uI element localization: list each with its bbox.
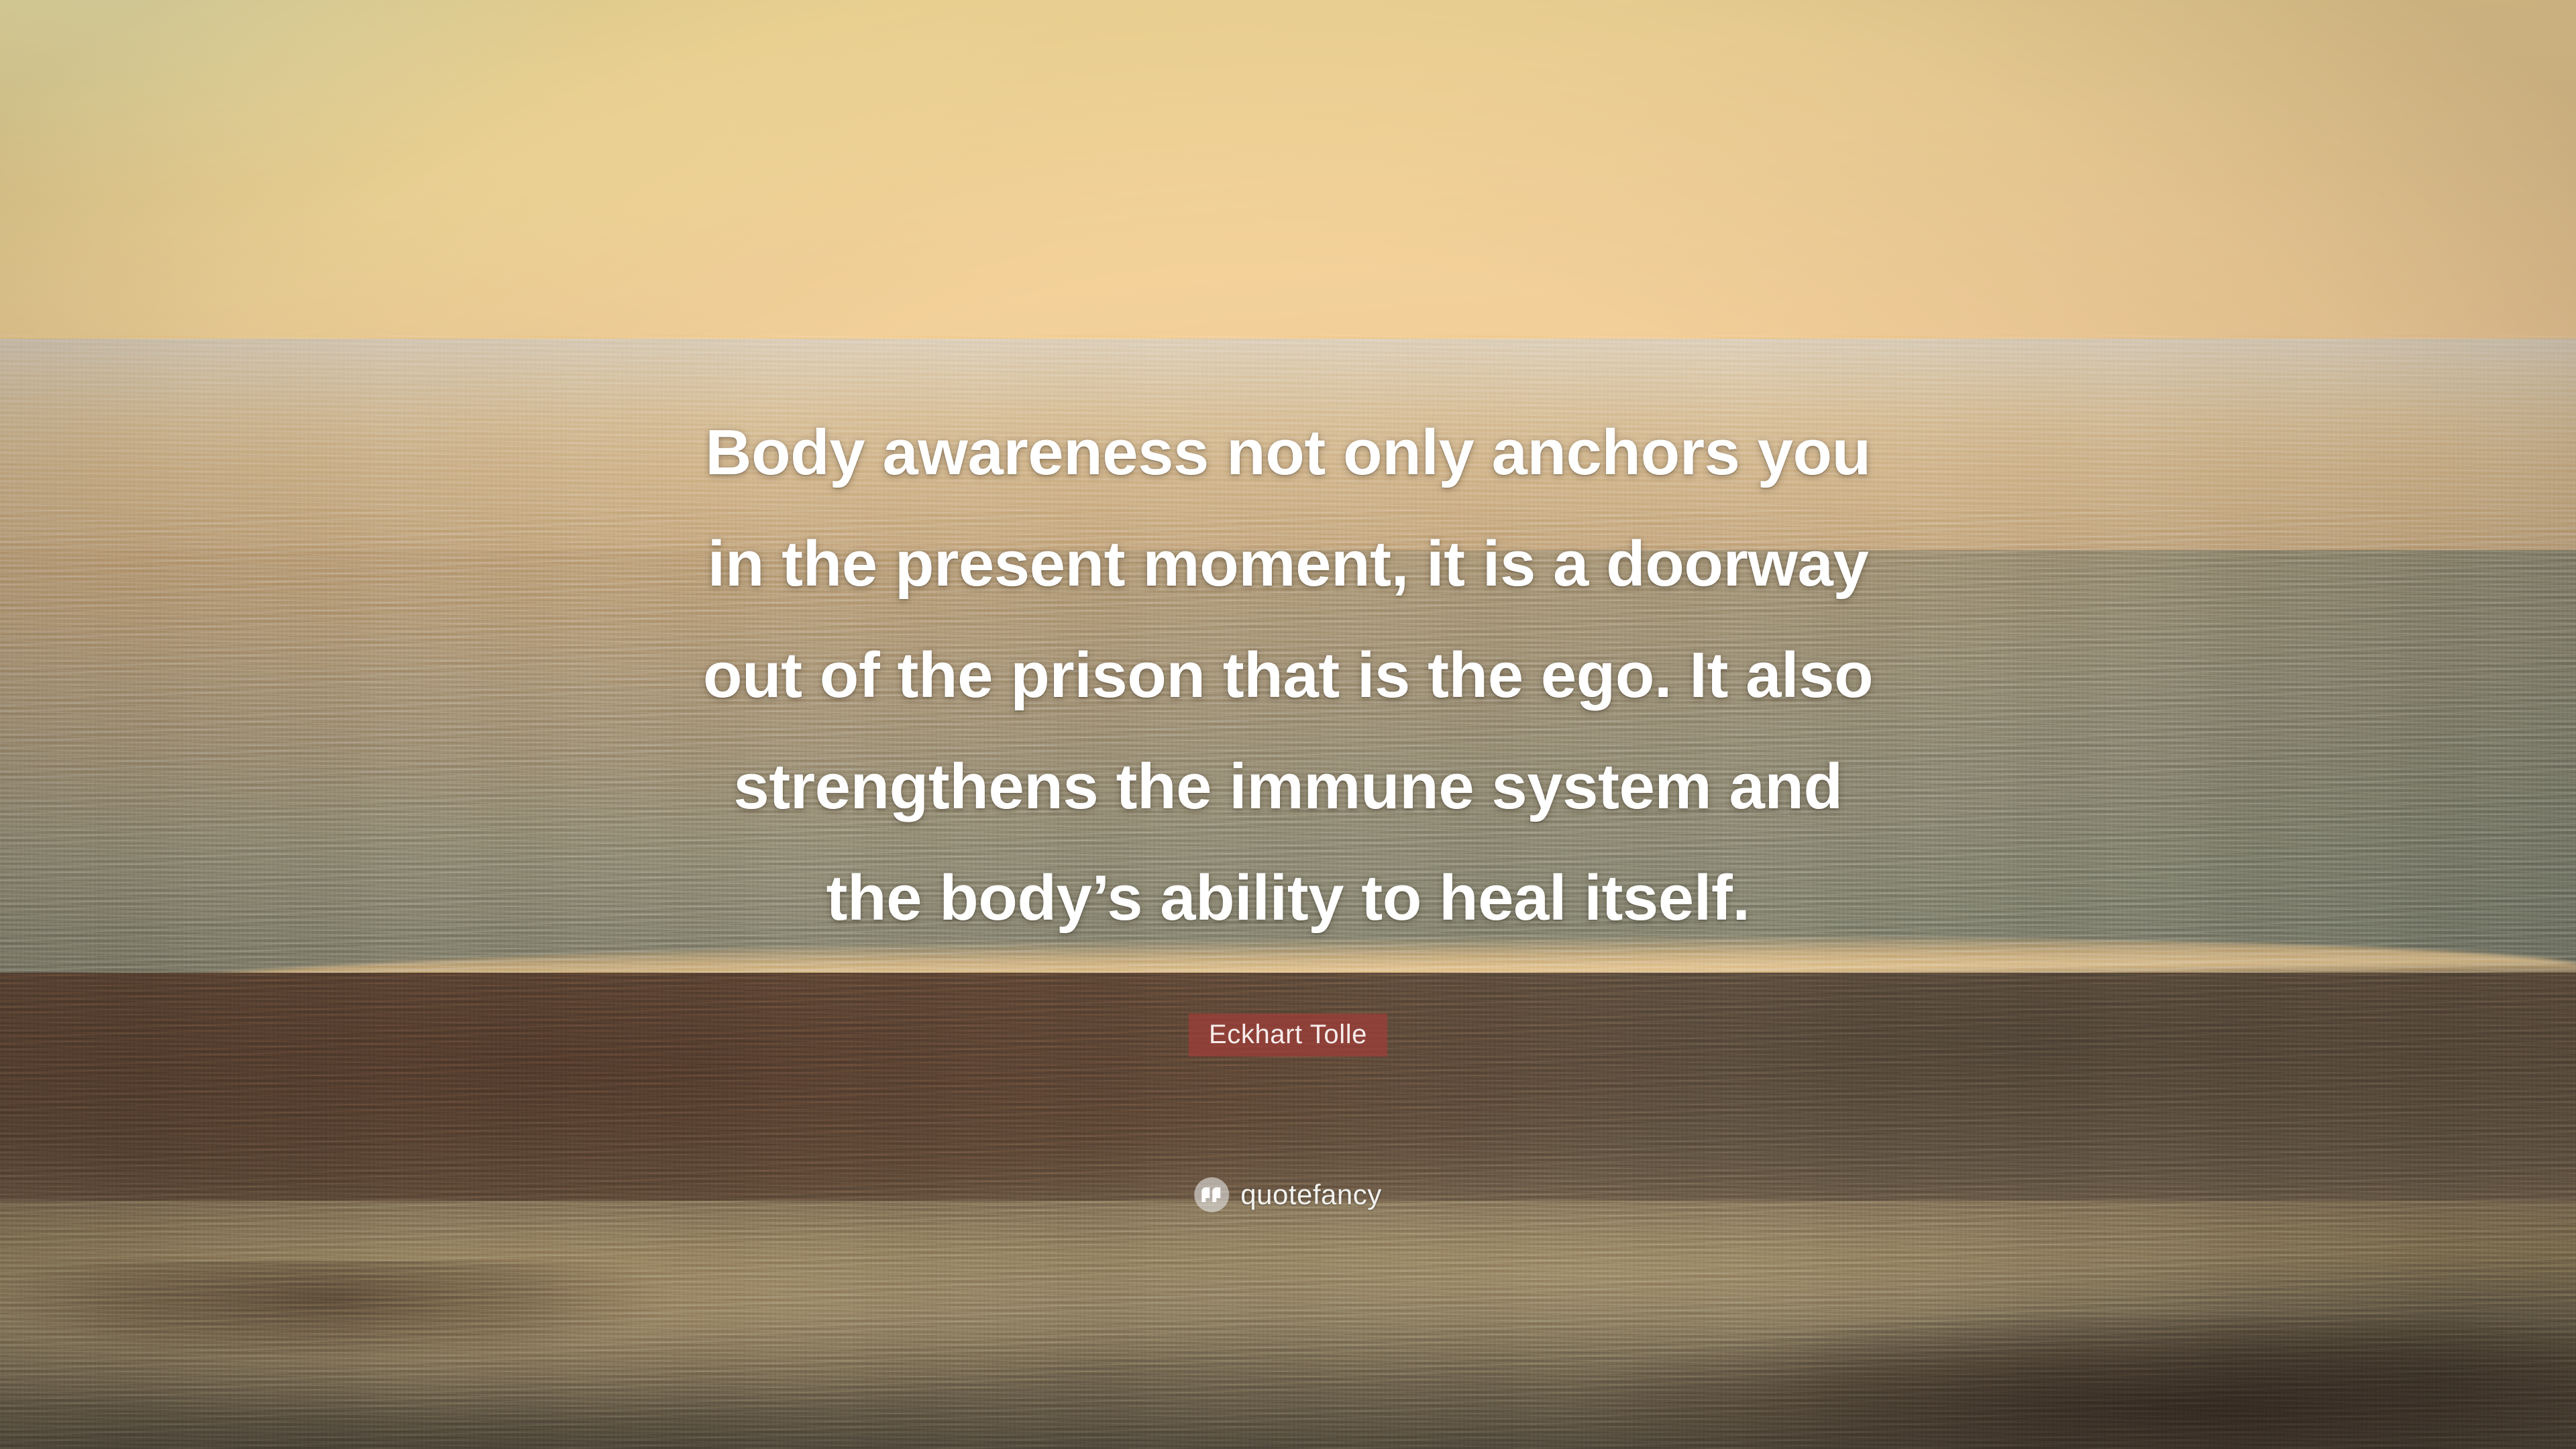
quote-line: the body’s ability to heal itself. [517,843,2059,954]
quotefancy-logo[interactable]: quotefancy [1194,1177,1382,1212]
quote-wallpaper: Body awareness not only anchors you in t… [0,0,2576,1449]
brand-wordmark: quotefancy [1240,1181,1382,1209]
quote-line: strengthens the immune system and [517,731,2059,843]
author-badge: Eckhart Tolle [1189,1014,1387,1057]
quote-line: in the present moment, it is a doorway [517,508,2059,620]
quote-line: Body awareness not only anchors you [517,397,2059,508]
quote-mark-icon [1194,1177,1229,1212]
attribution: Eckhart Tolle [1189,1014,1387,1057]
quote-line: out of the prison that is the ego. It al… [517,620,2059,731]
overlay-content: Body awareness not only anchors you in t… [0,0,2576,1449]
quote-text-block: Body awareness not only anchors you in t… [517,397,2059,954]
